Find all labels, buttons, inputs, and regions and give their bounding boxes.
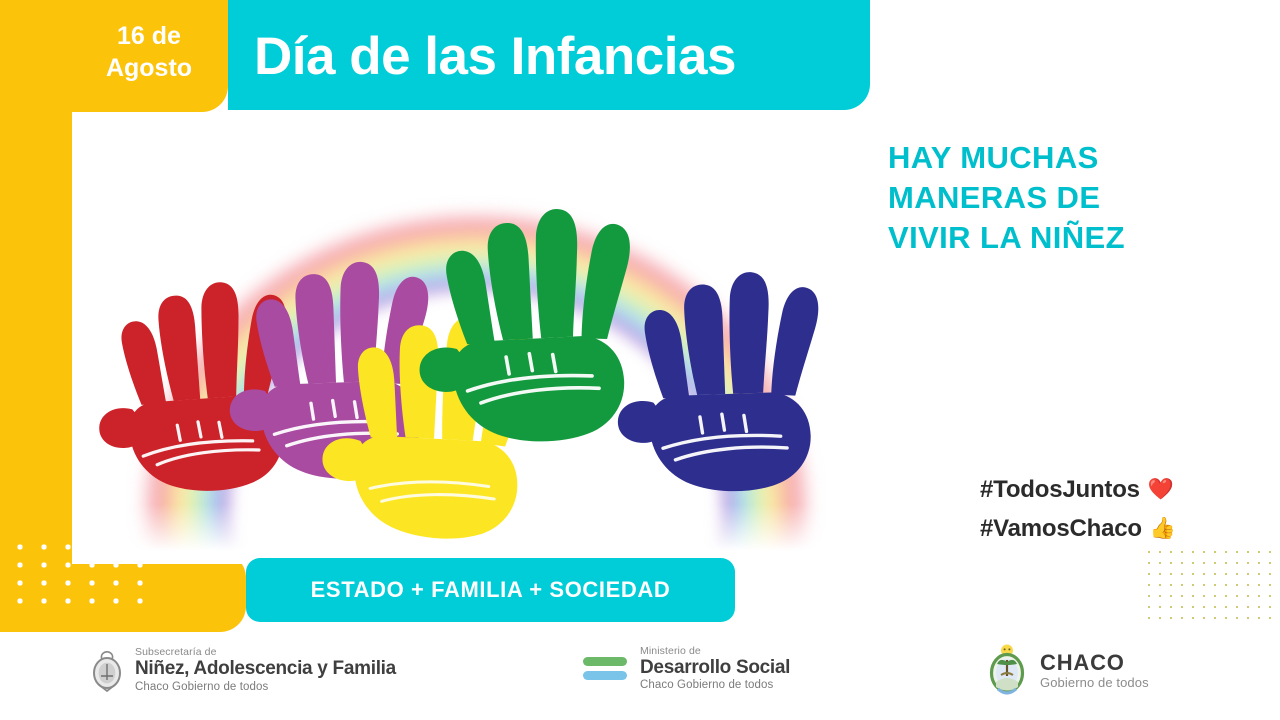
logo-1-sub: Chaco Gobierno de todos xyxy=(135,681,396,693)
event-date: 16 de Agosto xyxy=(78,20,220,94)
artwork-stage xyxy=(72,112,880,564)
subsecretaria-ninez-logo: Subsecretaría de Niñez, Adolescencia y F… xyxy=(90,646,396,694)
thumbs-up-emoji: 👍 xyxy=(1150,518,1176,539)
red-heart-emoji: ❤️ xyxy=(1148,479,1174,500)
handprints-group xyxy=(72,112,880,564)
chaco-gobierno-logo: CHACO Gobierno de todos xyxy=(985,642,1149,698)
headline-text: HAY MUCHAS MANERAS DE VIVIR LA NIÑEZ xyxy=(888,138,1218,258)
yellow-dot-pattern xyxy=(1148,551,1280,623)
logo-3-sub: Gobierno de todos xyxy=(1040,676,1149,690)
chaco-gobierno-text: CHACO Gobierno de todos xyxy=(1040,650,1149,689)
event-date-month: Agosto xyxy=(78,52,220,84)
yellow-bottom-block xyxy=(0,552,246,632)
logo-2-small: Ministerio de xyxy=(640,646,790,657)
subsecretaria-ninez-text: Subsecretaría de Niñez, Adolescencia y F… xyxy=(135,647,396,692)
logo-1-small: Subsecretaría de xyxy=(135,647,396,658)
ministerio-desarrollo-social-logo: Ministerio de Desarrollo Social Chaco Go… xyxy=(583,646,790,691)
tagline-banner: ESTADO + FAMILIA + SOCIEDAD xyxy=(246,558,735,622)
chaco-coat-of-arms-icon xyxy=(90,646,124,694)
logo-bar: Subsecretaría de Niñez, Adolescencia y F… xyxy=(0,632,1280,720)
poster-canvas: 16 de Agosto Día de las Infancias xyxy=(0,0,1280,720)
logo-2-sub: Chaco Gobierno de todos xyxy=(640,679,790,691)
hashtag-todosjuntos-text: #TodosJuntos xyxy=(980,470,1140,509)
event-date-day: 16 de xyxy=(78,20,220,52)
logo-2-big: Desarrollo Social xyxy=(640,658,790,678)
logo-3-big: CHACO xyxy=(1040,651,1149,674)
headline-line-3: VIVIR LA NIÑEZ xyxy=(888,218,1218,258)
handprint-blue xyxy=(613,270,825,495)
headline-line-1: HAY MUCHAS xyxy=(888,138,1218,178)
page-title: Día de las Infancias xyxy=(254,24,854,94)
two-bars-green-blue-icon xyxy=(583,657,627,680)
headline-line-2: MANERAS DE xyxy=(888,178,1218,218)
ministerio-desarrollo-social-text: Ministerio de Desarrollo Social Chaco Go… xyxy=(640,646,790,691)
hashtag-todosjuntos: #TodosJuntos ❤️ xyxy=(980,470,1270,509)
hashtag-vamoschaco: #VamosChaco 👍 xyxy=(980,509,1270,548)
hashtag-list: #TodosJuntos ❤️ #VamosChaco 👍 xyxy=(980,470,1270,548)
logo-1-big: Niñez, Adolescencia y Familia xyxy=(135,659,396,679)
hashtag-vamoschaco-text: #VamosChaco xyxy=(980,509,1142,548)
tagline-text: ESTADO + FAMILIA + SOCIEDAD xyxy=(311,577,671,603)
chaco-coat-of-arms-icon xyxy=(985,642,1029,698)
